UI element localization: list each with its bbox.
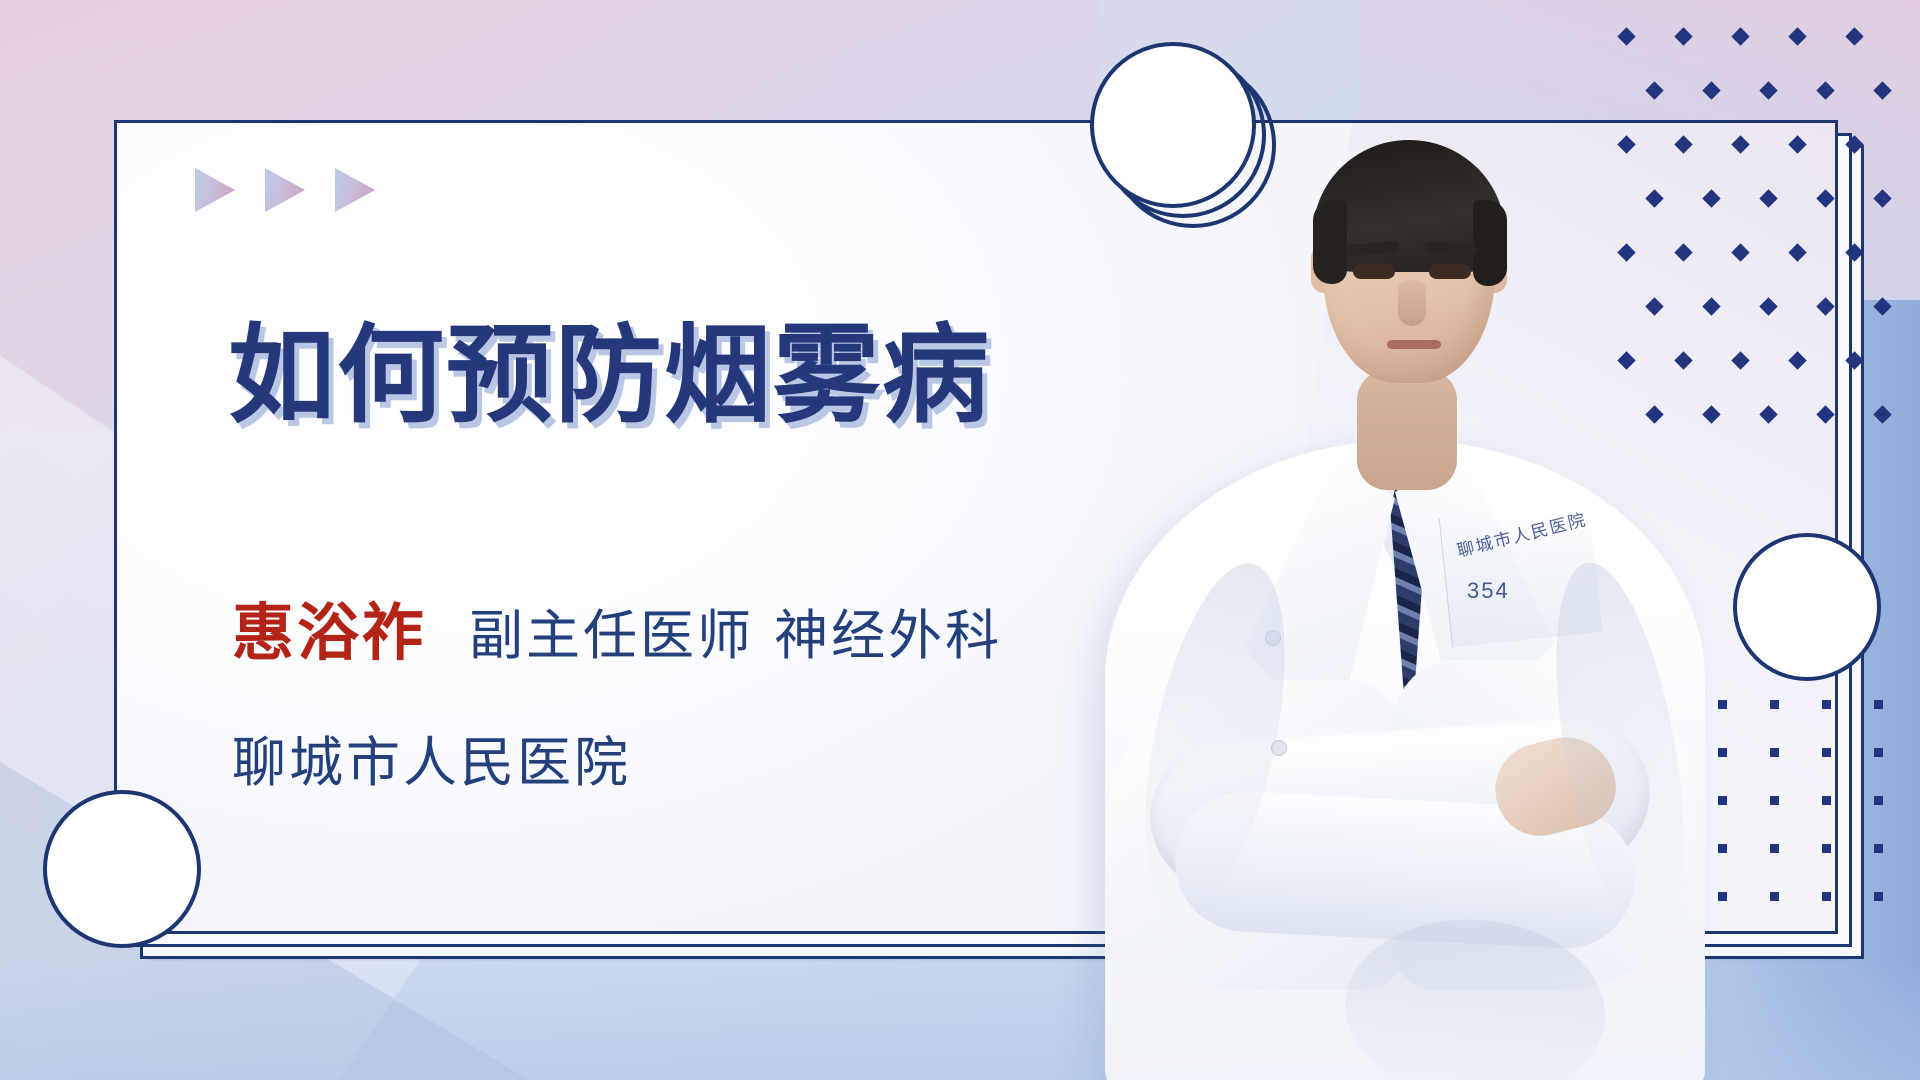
dot-square-icon bbox=[1874, 844, 1883, 853]
eye-left bbox=[1353, 264, 1395, 279]
dot-diamond-icon bbox=[1845, 27, 1863, 45]
dot-square-icon bbox=[1874, 892, 1883, 901]
dot-diamond-icon bbox=[1731, 27, 1749, 45]
slide-canvas: 如何预防烟雾病 惠浴祚 副主任医师 神经外科 聊城市人民医院 bbox=[0, 0, 1920, 1080]
dot-square-icon bbox=[1822, 700, 1831, 709]
dot-diamond-icon bbox=[1845, 135, 1863, 153]
dot-diamond-icon bbox=[1873, 297, 1891, 315]
dot-square-icon bbox=[1770, 844, 1779, 853]
doctor-credentials-row: 惠浴祚 副主任医师 神经外科 bbox=[232, 582, 1002, 672]
doctor-name: 惠浴祚 bbox=[232, 582, 427, 672]
hair-side-left bbox=[1313, 200, 1347, 284]
dot-square-icon bbox=[1718, 700, 1727, 709]
play-triangle-icon bbox=[335, 168, 375, 212]
dot-diamond-icon bbox=[1759, 189, 1777, 207]
dot-diamond-icon bbox=[1816, 189, 1834, 207]
dot-square-icon bbox=[1822, 748, 1831, 757]
dot-square-icon bbox=[1822, 892, 1831, 901]
dot-diamond-icon bbox=[1788, 27, 1806, 45]
dot-diamond-icon bbox=[1845, 243, 1863, 261]
page-title: 如何预防烟雾病 bbox=[228, 320, 991, 432]
dot-square-icon bbox=[1770, 892, 1779, 901]
dot-square-icon bbox=[1770, 748, 1779, 757]
dot-diamond-icon bbox=[1873, 189, 1891, 207]
hospital-name: 聊城市人民医院 bbox=[232, 718, 631, 797]
dot-diamond-icon bbox=[1731, 243, 1749, 261]
dot-square-icon bbox=[1718, 844, 1727, 853]
dot-square-icon bbox=[1718, 796, 1727, 805]
dot-square-icon bbox=[1718, 892, 1727, 901]
hair-side-right bbox=[1473, 200, 1507, 286]
dot-square-icon bbox=[1822, 844, 1831, 853]
doctor-portrait: 聊城市人民医院 354 bbox=[1095, 40, 1715, 1080]
dot-diamond-icon bbox=[1731, 135, 1749, 153]
dot-square-icon bbox=[1770, 700, 1779, 709]
dot-diamond-icon bbox=[1873, 81, 1891, 99]
circle-outline-icon bbox=[43, 790, 201, 948]
play-triangle-icon bbox=[265, 168, 305, 212]
play-triangle-icon bbox=[195, 168, 235, 212]
dot-grid-bottom-right bbox=[1718, 700, 1918, 930]
dot-diamond-icon bbox=[1816, 81, 1834, 99]
dot-diamond-icon bbox=[1759, 297, 1777, 315]
dot-square-icon bbox=[1822, 796, 1831, 805]
coat-badge-number: 354 bbox=[1467, 578, 1510, 604]
eye-right bbox=[1429, 264, 1471, 279]
dot-square-icon bbox=[1874, 796, 1883, 805]
neck bbox=[1357, 370, 1457, 490]
dot-square-icon bbox=[1874, 700, 1883, 709]
arrow-decoration-group bbox=[195, 168, 375, 212]
doctor-title: 副主任医师 神经外科 bbox=[469, 591, 1002, 670]
nose bbox=[1398, 280, 1426, 326]
dot-diamond-icon bbox=[1759, 81, 1777, 99]
circle-outline-icon bbox=[1733, 533, 1881, 681]
dot-diamond-icon bbox=[1788, 135, 1806, 153]
mouth bbox=[1387, 340, 1441, 349]
dot-square-icon bbox=[1874, 748, 1883, 757]
dot-square-icon bbox=[1770, 796, 1779, 805]
dot-diamond-icon bbox=[1788, 243, 1806, 261]
dot-diamond-icon bbox=[1816, 297, 1834, 315]
dot-square-icon bbox=[1718, 748, 1727, 757]
